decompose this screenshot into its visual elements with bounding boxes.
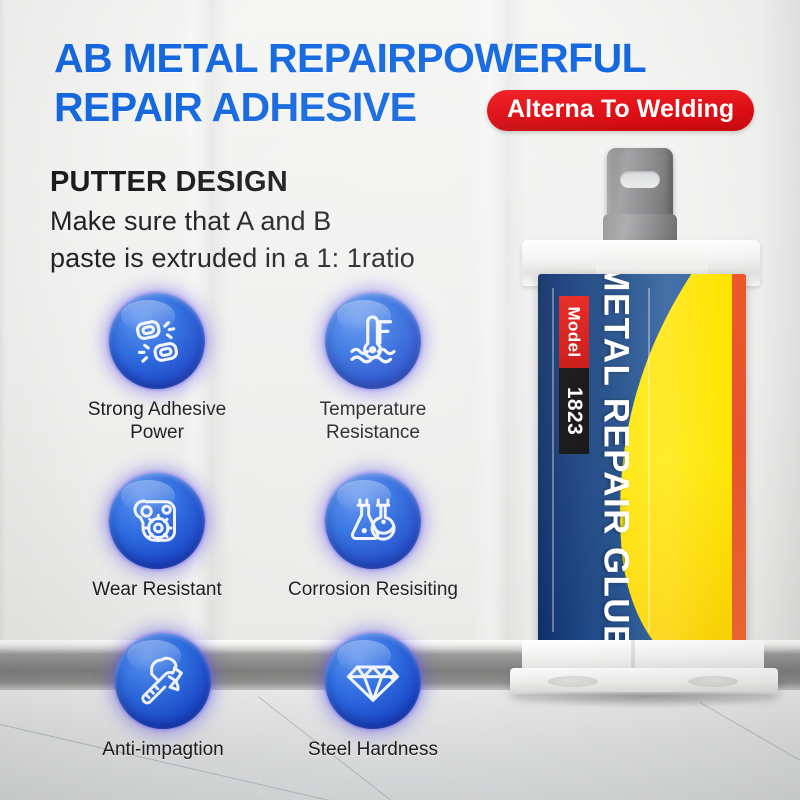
feature-grid: Strong Adhesive Power Temperature Resist… <box>0 0 520 800</box>
plunger-well-a <box>548 676 598 687</box>
product-cartridge: Model 1823 METAL REPAIR GLUE <box>500 140 800 760</box>
feature-label-line-1: Wear Resistant <box>92 579 222 600</box>
model-number-badge: 1823 <box>559 368 589 454</box>
cap-slot <box>620 171 660 188</box>
feature-label: Temperature Resistance <box>268 398 478 444</box>
cartridge-title: METAL REPAIR GLUE <box>590 286 642 632</box>
feature-label: Corrosion Resisiting <box>268 578 478 601</box>
cartridge-shadow <box>506 692 786 708</box>
hammer-icon <box>115 633 211 729</box>
diamond-icon <box>325 633 421 729</box>
feature-label-line-1: Temperature <box>320 399 427 420</box>
cartridge-body: Model 1823 METAL REPAIR GLUE <box>538 274 746 646</box>
product-poster: AB METAL REPAIRPOWERFUL REPAIR ADHESIVE … <box>0 0 800 800</box>
feature-anti-impagtion: Anti-impagtion <box>58 633 268 761</box>
model-badge-label: Model <box>564 306 584 357</box>
engine-gear-icon <box>109 473 205 569</box>
feature-label: Strong Adhesive Power <box>52 398 262 444</box>
feature-steel-hardness: Steel Hardness <box>268 633 478 761</box>
feature-wear-resistant: Wear Resistant <box>52 473 262 601</box>
cartridge-title-text: METAL REPAIR GLUE <box>596 274 636 646</box>
feature-label: Steel Hardness <box>268 738 478 761</box>
feature-label-line-1: Strong Adhesive <box>88 399 226 420</box>
label-rule-right <box>648 288 650 632</box>
chain-links-icon <box>109 293 205 389</box>
plunger-well-b <box>688 676 738 687</box>
model-number-label: 1823 <box>562 387 586 435</box>
feature-temperature-resistance: Temperature Resistance <box>268 293 478 444</box>
feature-label-line-1: Corrosion Resisiting <box>288 579 458 600</box>
alterna-to-welding-badge: Alterna To Welding <box>487 90 754 131</box>
model-badge: Model <box>559 296 589 368</box>
feature-label: Wear Resistant <box>52 578 262 601</box>
feature-corrosion-resisiting: Corrosion Resisiting <box>268 473 478 601</box>
feature-label-line-2: Resistance <box>326 422 420 443</box>
feature-label-line-1: Anti-impagtion <box>102 739 223 760</box>
feature-label-line-1: Steel Hardness <box>308 739 438 760</box>
feature-label-line-2: Power <box>130 422 184 443</box>
flasks-icon <box>325 473 421 569</box>
thermometer-waves-icon <box>325 293 421 389</box>
feature-strong-adhesive-power: Strong Adhesive Power <box>52 293 262 444</box>
label-rule-left <box>552 288 554 632</box>
feature-label: Anti-impagtion <box>58 738 268 761</box>
